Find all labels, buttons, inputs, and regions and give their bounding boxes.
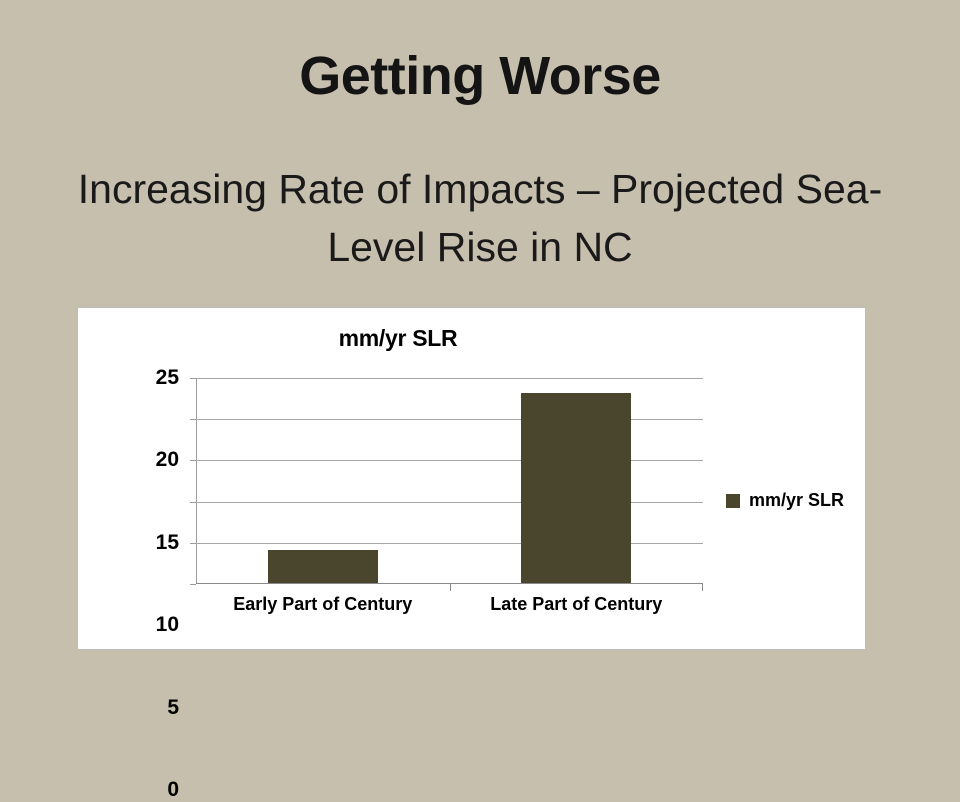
x-axis-category-label: Late Part of Century	[450, 594, 704, 615]
y-axis-tick-label: 5	[167, 696, 179, 720]
bar	[268, 550, 378, 583]
chart-legend: mm/yr SLR	[726, 490, 844, 511]
slide-subtitle: Increasing Rate of Impacts – Projected S…	[55, 160, 905, 276]
y-axis-tick-label: 10	[156, 613, 179, 637]
y-axis-tick: 10	[190, 502, 196, 503]
gridline	[196, 378, 703, 379]
bar	[521, 393, 631, 583]
y-axis-tick-label: 15	[156, 531, 179, 555]
legend-label: mm/yr SLR	[749, 490, 844, 511]
y-axis-tick-label: 25	[156, 366, 179, 390]
page-title: Getting Worse	[0, 48, 960, 105]
legend-swatch-icon	[726, 494, 740, 508]
chart-title: mm/yr SLR	[78, 325, 718, 352]
x-axis-category-label: Early Part of Century	[196, 594, 450, 615]
y-axis-tick: 15	[190, 460, 196, 461]
y-axis-tick-label: 0	[167, 778, 179, 802]
y-axis-tick: 20	[190, 419, 196, 420]
axis-end-tick	[702, 584, 703, 591]
category-divider	[450, 584, 451, 591]
plot-area: 0510152025	[196, 378, 703, 584]
slide: Getting Worse Increasing Rate of Impacts…	[0, 0, 960, 720]
y-axis-tick-label: 20	[156, 448, 179, 472]
y-axis-line	[196, 378, 197, 584]
chart-panel: mm/yr SLR 0510152025 Early Part of Centu…	[77, 307, 866, 650]
y-axis-tick: 5	[190, 543, 196, 544]
y-axis-tick: 0	[190, 584, 196, 585]
y-axis-tick: 25	[190, 378, 196, 379]
